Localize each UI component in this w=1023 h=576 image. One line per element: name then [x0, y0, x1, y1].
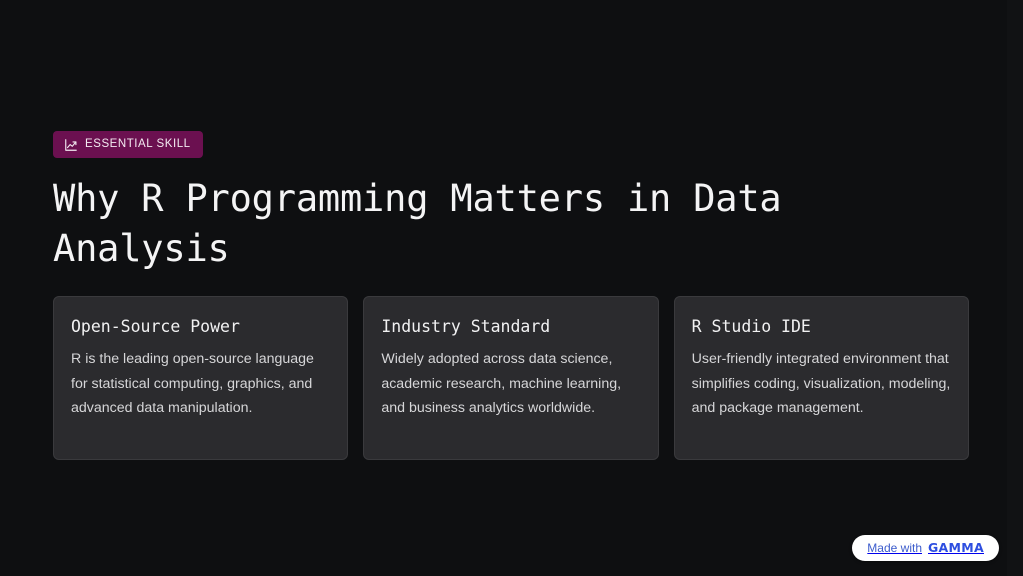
feature-card-industry-standard: Industry Standard Widely adopted across …	[363, 296, 658, 460]
gamma-wordmark: GAMMA	[928, 542, 984, 555]
feature-card-body: R is the leading open-source language fo…	[71, 347, 330, 421]
essential-skill-badge: ESSENTIAL SKILL	[53, 131, 203, 158]
line-chart-trending-up-icon	[64, 138, 78, 152]
page-title: Why R Programming Matters in Data Analys…	[53, 174, 853, 274]
feature-card-title: Open-Source Power	[71, 316, 330, 338]
made-with-gamma-badge[interactable]: Made with GAMMA	[852, 535, 999, 561]
right-edge-strip	[1007, 0, 1023, 576]
feature-card-title: R Studio IDE	[692, 316, 951, 338]
made-with-label: Made with	[867, 542, 922, 554]
slide-canvas: ESSENTIAL SKILL Why R Programming Matter…	[0, 0, 1023, 576]
feature-card-grid: Open-Source Power R is the leading open-…	[53, 296, 969, 460]
essential-skill-badge-label: ESSENTIAL SKILL	[85, 139, 191, 151]
feature-card-title: Industry Standard	[381, 316, 640, 338]
feature-card-open-source-power: Open-Source Power R is the leading open-…	[53, 296, 348, 460]
feature-card-body: Widely adopted across data science, acad…	[381, 347, 640, 421]
slide-content: ESSENTIAL SKILL Why R Programming Matter…	[53, 131, 969, 460]
feature-card-body: User-friendly integrated environment tha…	[692, 347, 951, 421]
feature-card-r-studio-ide: R Studio IDE User-friendly integrated en…	[674, 296, 969, 460]
